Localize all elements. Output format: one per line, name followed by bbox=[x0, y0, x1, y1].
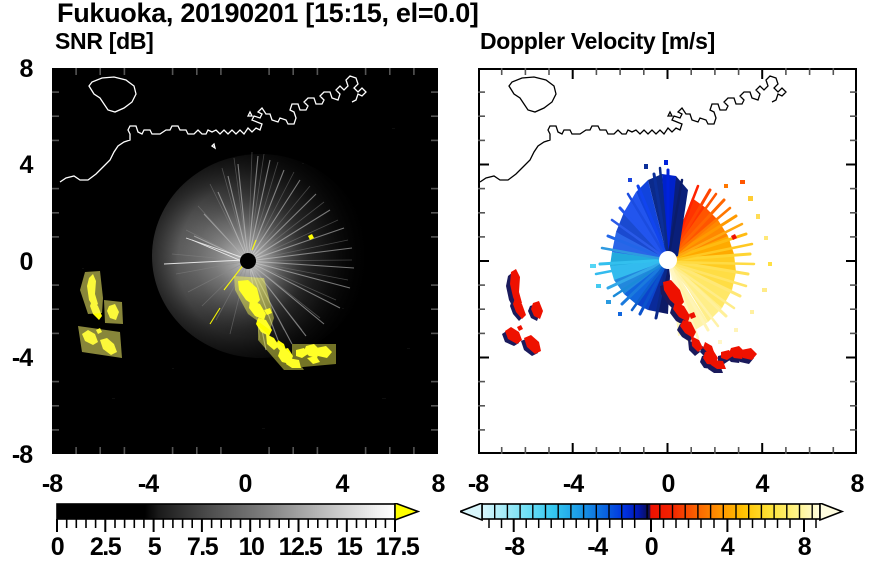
snr-xtick-0: 0 bbox=[220, 470, 270, 499]
doppler-colorbar-under-arrow bbox=[460, 503, 482, 520]
snr-cb-label-5: 5 bbox=[134, 533, 174, 562]
snr-ytick-8: 8 bbox=[6, 55, 46, 84]
doppler-colorbar[interactable] bbox=[460, 503, 855, 533]
snr-ytick-4: 4 bbox=[6, 151, 46, 180]
snr-ytick-m4: -4 bbox=[0, 344, 46, 373]
doppler-xtick-0: 0 bbox=[643, 470, 693, 499]
doppler-cb-label-m8: -8 bbox=[489, 533, 539, 562]
doppler-cb-label-0: 0 bbox=[626, 533, 676, 562]
snr-colorbar-over-arrow bbox=[395, 503, 418, 520]
doppler-panel-title: Doppler Velocity [m/s] bbox=[480, 28, 715, 55]
doppler-xtick-4: 4 bbox=[737, 470, 787, 499]
snr-colorbar-svg[interactable] bbox=[52, 503, 420, 533]
radar-center-marker bbox=[240, 253, 256, 269]
snr-xtick-m8: -8 bbox=[27, 470, 77, 499]
doppler-colorbar-svg[interactable] bbox=[460, 503, 855, 533]
snr-cb-label-2p5: 2.5 bbox=[75, 533, 135, 562]
snr-colorbar-major-ticks bbox=[57, 519, 395, 532]
snr-ytick-m8: -8 bbox=[0, 441, 46, 470]
doppler-cb-label-8: 8 bbox=[779, 533, 829, 562]
snr-colorbar[interactable] bbox=[52, 503, 420, 533]
page-title: Fukuoka, 20190201 [15:15, el=0.0] bbox=[57, 0, 479, 29]
doppler-xtick-m4: -4 bbox=[548, 470, 598, 499]
snr-cb-label-17p5: 17.5 bbox=[364, 533, 430, 562]
doppler-cb-label-m4: -4 bbox=[572, 533, 622, 562]
doppler-xtick-8: 8 bbox=[832, 470, 870, 499]
snr-ytick-0: 0 bbox=[6, 248, 46, 277]
snr-cb-label-0: 0 bbox=[37, 533, 77, 562]
doppler-plot[interactable] bbox=[478, 68, 857, 454]
doppler-colorbar-major-ticks bbox=[514, 519, 804, 532]
snr-colorbar-gradient bbox=[57, 504, 395, 519]
doppler-panel[interactable] bbox=[478, 68, 857, 454]
doppler-cb-label-4: 4 bbox=[702, 533, 752, 562]
doppler-colorbar-over-arrow bbox=[820, 503, 842, 520]
snr-xtick-m4: -4 bbox=[123, 470, 173, 499]
snr-panel[interactable] bbox=[52, 68, 438, 454]
snr-xtick-4: 4 bbox=[317, 470, 367, 499]
snr-colorbar-minor-ticks bbox=[67, 519, 386, 528]
snr-plot[interactable] bbox=[52, 68, 438, 454]
doppler-radar-hole bbox=[659, 251, 677, 269]
doppler-xtick-m8: -8 bbox=[453, 470, 503, 499]
snr-cb-label-7p5: 7.5 bbox=[172, 533, 232, 562]
snr-panel-title: SNR [dB] bbox=[55, 28, 154, 55]
doppler-colorbar-minor-ticks bbox=[489, 519, 816, 528]
